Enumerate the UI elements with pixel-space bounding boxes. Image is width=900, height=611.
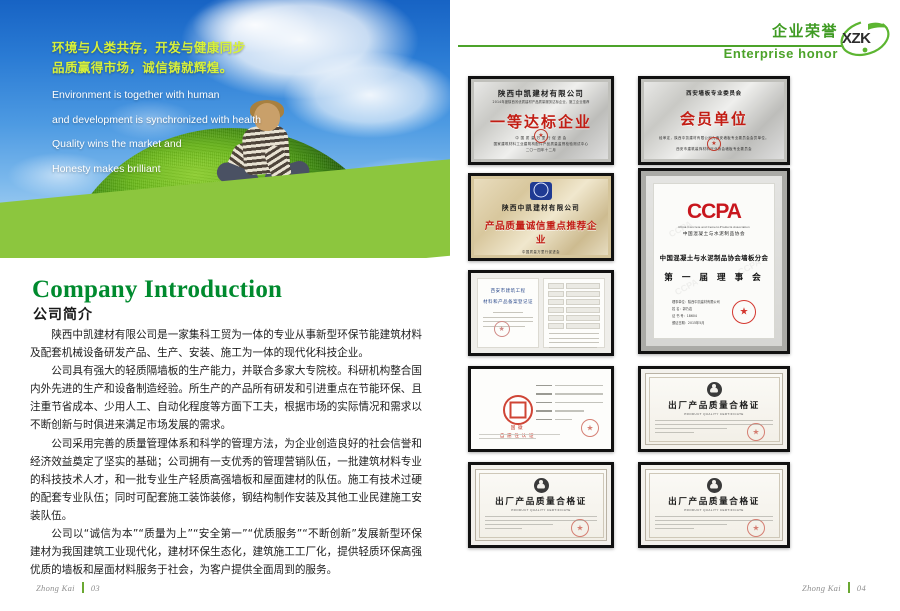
footer-divider-icon — [82, 582, 84, 593]
certificate-item[interactable]: 陕西中凯建材有限公司 2014年度陕西省优质建材产品质量服务达标企业、施工企业推… — [468, 76, 614, 165]
cert-2-top: 西安墙板专业委员会 — [650, 89, 778, 99]
cert-3-top: 陕西中凯建材有限公司 — [480, 203, 602, 213]
footer-divider-icon — [848, 582, 850, 593]
section-title-en: Enterprise honor — [724, 46, 838, 61]
section-header: 企业荣誉 Enterprise honor XZK — [450, 0, 900, 72]
certificate-item[interactable]: CCPA CCPA CCPA CCPA China Concrete and C… — [638, 168, 790, 354]
cert-8-title: 出厂产品质量合格证 — [479, 495, 603, 507]
footer-brand: Zhong Kai — [802, 583, 841, 593]
cert-7-title: 出厂产品质量合格证 — [649, 399, 779, 411]
ccpa-meta-0: 理事单位：陕西中凯建材有限公司 — [672, 299, 720, 306]
red-seal-icon — [707, 137, 721, 151]
red-ring-emblem-icon — [503, 395, 533, 425]
page-title-cn: 公司简介 — [33, 304, 93, 324]
ccpa-logo: CCPA — [687, 200, 741, 224]
footer-brand: Zhong Kai — [36, 583, 75, 593]
logo-text: XZK — [842, 30, 871, 47]
book-page-left: 西安市建筑工程 材料和产品备案登记证 — [477, 278, 539, 348]
certificate-item[interactable]: 西安墙板专业委员会 会员单位 经审定，陕西中凯建材有限公司为西安墙板专业委员会会… — [638, 76, 790, 165]
footer-right: Zhong Kai 04 — [802, 582, 866, 593]
cert-3-foot: 中国质量万里行促进会 — [480, 249, 602, 255]
cert-1-top: 陕西中凯建材有限公司 — [480, 89, 602, 99]
footer-left: Zhong Kai 03 — [36, 582, 100, 593]
page-number: 03 — [91, 583, 100, 593]
company-introduction-text: 陕西中凯建材有限公司是一家集科工贸为一体的专业从事新型环保节能建筑材料及配套机械… — [30, 326, 422, 579]
slogan-en-line4: Honesty makes brilliant — [52, 162, 302, 177]
ccpa-meta: 理事单位：陕西中凯建材有限公司 姓 名：郭乃岩 证 书 号：18604 颁证日期… — [672, 299, 720, 327]
national-emblem-icon — [707, 382, 722, 397]
slogan-en-line2: and development is synchronized with hea… — [52, 113, 302, 128]
ccpa-meta-3: 颁证日期：2015年5月 — [672, 320, 720, 327]
red-seal-icon — [494, 321, 510, 337]
paragraph-1: 陕西中凯建材有限公司是一家集科工贸为一体的专业从事新型环保节能建筑材料及配套机械… — [30, 326, 422, 362]
ccpa-meta-1: 姓 名：郭乃岩 — [672, 306, 720, 313]
paragraph-2: 公司具有强大的轻质隔墙板的生产能力，并联合多家大专院校。科研机构整合国内外先进的… — [30, 362, 422, 434]
cert-1-foot3: 二〇一四年十二月 — [480, 147, 602, 153]
book-page-right — [543, 278, 605, 348]
cert-8-sub: PRODUCT QUALITY CERTIFICATE — [479, 508, 603, 512]
cert-5-title-2: 材料和产品备案登记证 — [478, 299, 538, 307]
certificate-item[interactable]: 国 徽 自 愿 性 认 证 — [468, 366, 614, 452]
red-seal-icon — [581, 419, 599, 437]
globe-emblem-icon — [530, 182, 552, 200]
page-right: 企业荣誉 Enterprise honor XZK 陕西中凯建材有限公司 201… — [450, 0, 900, 611]
certificate-item[interactable]: 西安市建筑工程 材料和产品备案登记证 — [468, 270, 614, 356]
slogan-cn-line2: 品质赢得市场，诚信铸就辉煌。 — [52, 58, 302, 78]
certificate-item[interactable]: 陕西中凯建材有限公司 产品质量诚信重点推荐企业 中国质量万里行促进会 — [468, 173, 614, 261]
cert-6-title-1: 国 徽 — [493, 425, 541, 433]
paragraph-4: 公司以“诚信为本”“质量为上”“安全第一”“优质服务”“不断创新”发展新型环保建… — [30, 525, 422, 579]
national-emblem-icon — [707, 478, 722, 493]
cert-9-title: 出厂产品质量合格证 — [649, 495, 779, 507]
brochure-spread: 环境与人类共存，开发与健康同步 品质赢得市场，诚信铸就辉煌。 Environme… — [0, 0, 900, 611]
certificate-item[interactable]: 出厂产品质量合格证 PRODUCT QUALITY CERTIFICATE — [638, 366, 790, 452]
hero-slogan-block: 环境与人类共存，开发与健康同步 品质赢得市场，诚信铸就辉煌。 Environme… — [52, 38, 302, 176]
slogan-cn-line1: 环境与人类共存，开发与健康同步 — [52, 38, 302, 58]
ccpa-logo-text: CCPA — [687, 200, 741, 223]
slogan-en-line3: Quality wins the market and — [52, 137, 302, 152]
cert-3-main: 产品质量诚信重点推荐企业 — [480, 218, 602, 246]
national-emblem-icon — [534, 478, 549, 493]
page-number: 04 — [857, 583, 866, 593]
certificate-item[interactable]: 出厂产品质量合格证 PRODUCT QUALITY CERTIFICATE — [638, 462, 790, 548]
ccpa-logo-sub-cn: 中国混凝土与水泥制品协会 — [683, 231, 745, 237]
paragraph-3: 公司采用完善的质量管理体系和科学的管理方法，为企业创造良好的社会信誉和经济效益奠… — [30, 435, 422, 525]
page-title-en: Company Introduction — [32, 276, 282, 304]
page-left: 环境与人类共存，开发与健康同步 品质赢得市场，诚信铸就辉煌。 Environme… — [0, 0, 450, 611]
company-logo: XZK — [838, 18, 892, 58]
cert-2-main: 会员单位 — [650, 108, 778, 129]
cert-1-sub: 2014年度陕西省优质建材产品质量服务达标企业、施工企业推荐 — [480, 100, 602, 105]
red-seal-icon — [534, 129, 548, 143]
cert-7-sub: PRODUCT QUALITY CERTIFICATE — [649, 412, 779, 416]
cert-5-title-1: 西安市建筑工程 — [478, 288, 538, 296]
certificate-item[interactable]: 出厂产品质量合格证 PRODUCT QUALITY CERTIFICATE — [468, 462, 614, 548]
red-seal-icon — [732, 300, 756, 324]
slogan-en-line1: Environment is together with human — [52, 88, 302, 103]
cert-9-sub: PRODUCT QUALITY CERTIFICATE — [649, 508, 779, 512]
ccpa-meta-2: 证 书 号：18604 — [672, 313, 720, 320]
hero-image: 环境与人类共存，开发与健康同步 品质赢得市场，诚信铸就辉煌。 Environme… — [0, 0, 450, 258]
section-title-cn: 企业荣誉 — [772, 20, 838, 41]
